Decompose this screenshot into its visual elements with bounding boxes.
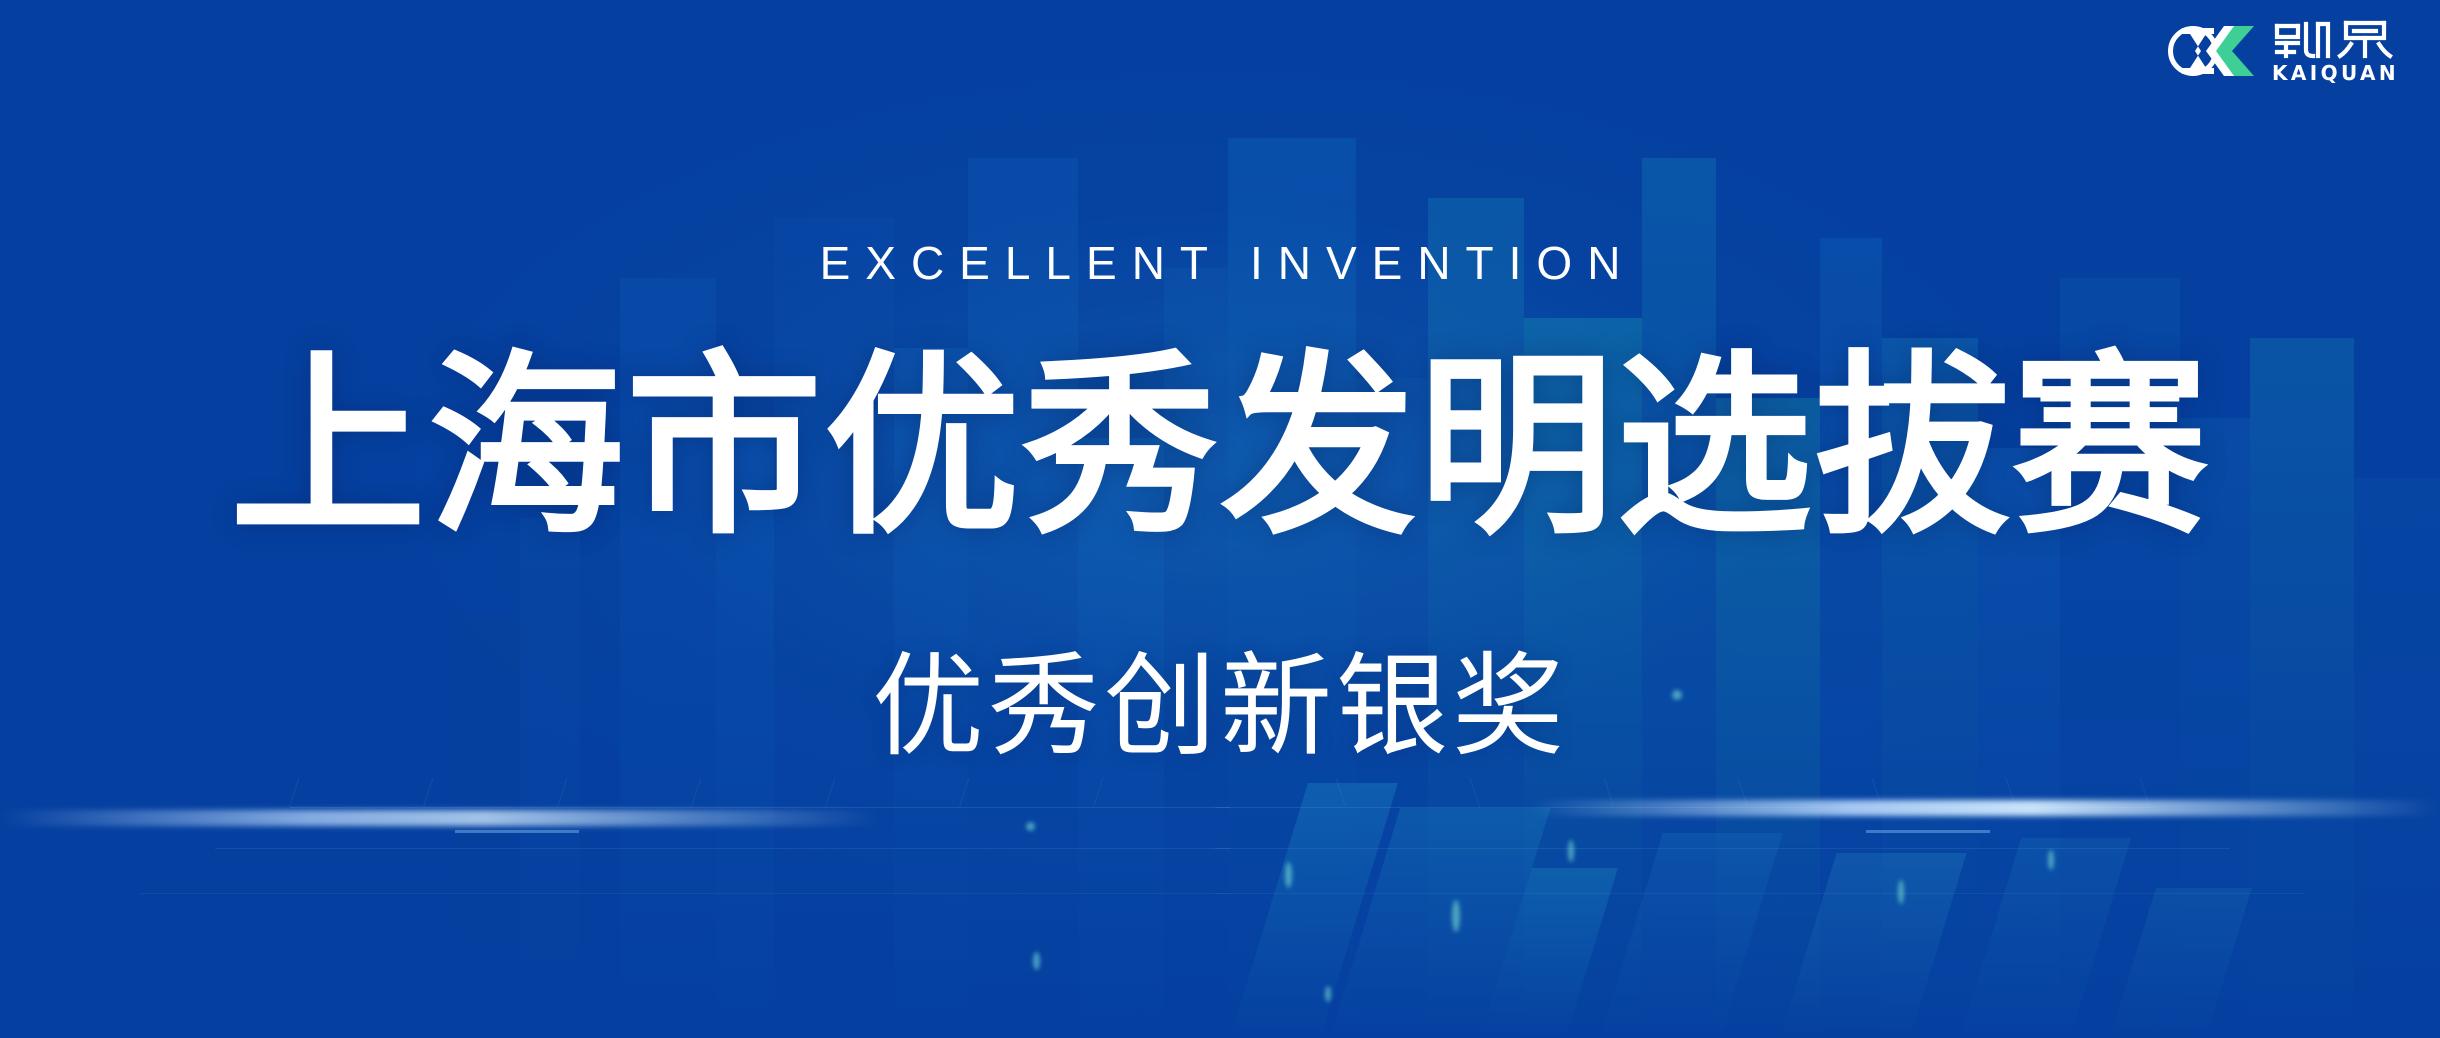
banner-content: EXCELLENT INVENTION 上海市优秀发明选拔赛 优秀创新银奖 [0, 0, 2440, 1038]
brand-logo: KAIQUAN [2162, 14, 2404, 88]
award-banner: EXCELLENT INVENTION 上海市优秀发明选拔赛 优秀创新银奖 [0, 0, 2440, 1038]
brand-en-label: KAIQUAN [2272, 62, 2404, 84]
eyebrow-text: EXCELLENT INVENTION [0, 236, 2440, 290]
page-title: 上海市优秀发明选拔赛 [0, 348, 2440, 548]
award-subtitle: 优秀创新银奖 [0, 645, 2440, 769]
brand-wordmark: KAIQUAN [2272, 16, 2404, 86]
brand-cn-icon [2272, 18, 2404, 60]
kaiquan-monogram-icon [2162, 16, 2256, 86]
